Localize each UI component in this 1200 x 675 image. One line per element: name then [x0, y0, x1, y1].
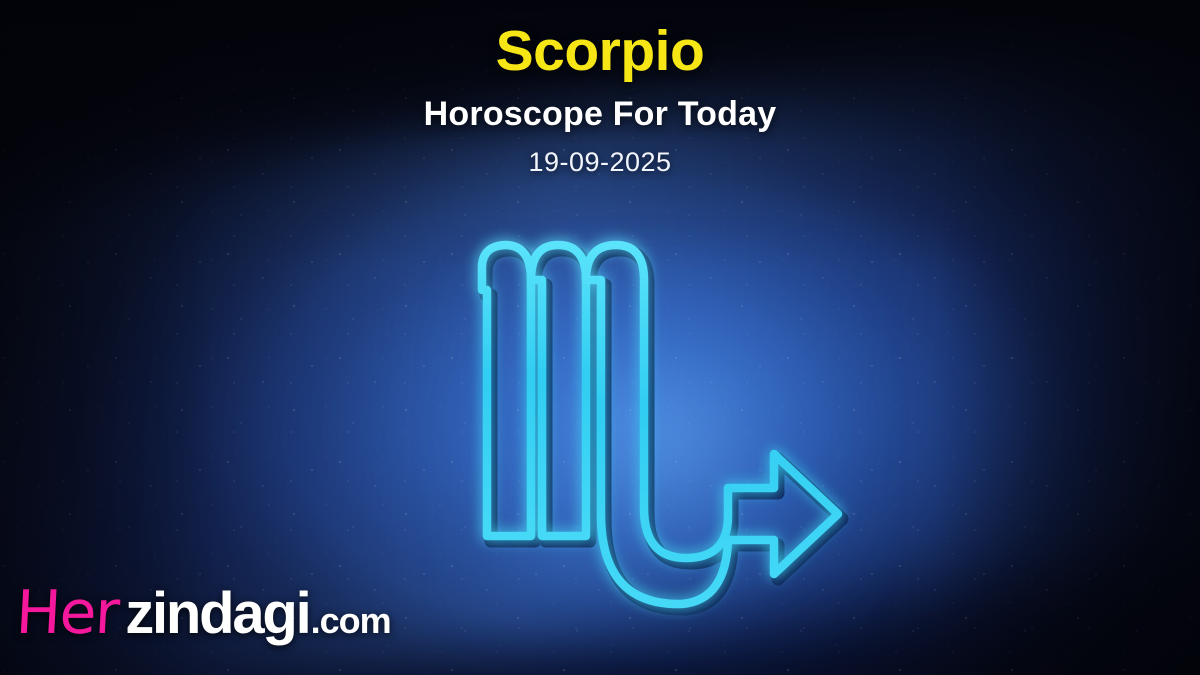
brand-logo[interactable]: Her zindagi .com [16, 583, 391, 643]
logo-tld-text: .com [311, 603, 391, 639]
header-block: Scorpio Horoscope For Today 19-09-2025 [0, 22, 1200, 178]
logo-zindagi-text: zindagi [125, 585, 309, 643]
logo-her-text: Her [14, 583, 119, 643]
page-subtitle: Horoscope For Today [0, 95, 1200, 134]
zodiac-symbol-container [430, 218, 890, 650]
horoscope-card: Scorpio Horoscope For Today 19-09-2025 [0, 0, 1200, 675]
scorpio-glyph-icon [430, 218, 890, 650]
page-title: Scorpio [0, 22, 1200, 82]
horoscope-date: 19-09-2025 [0, 147, 1200, 178]
